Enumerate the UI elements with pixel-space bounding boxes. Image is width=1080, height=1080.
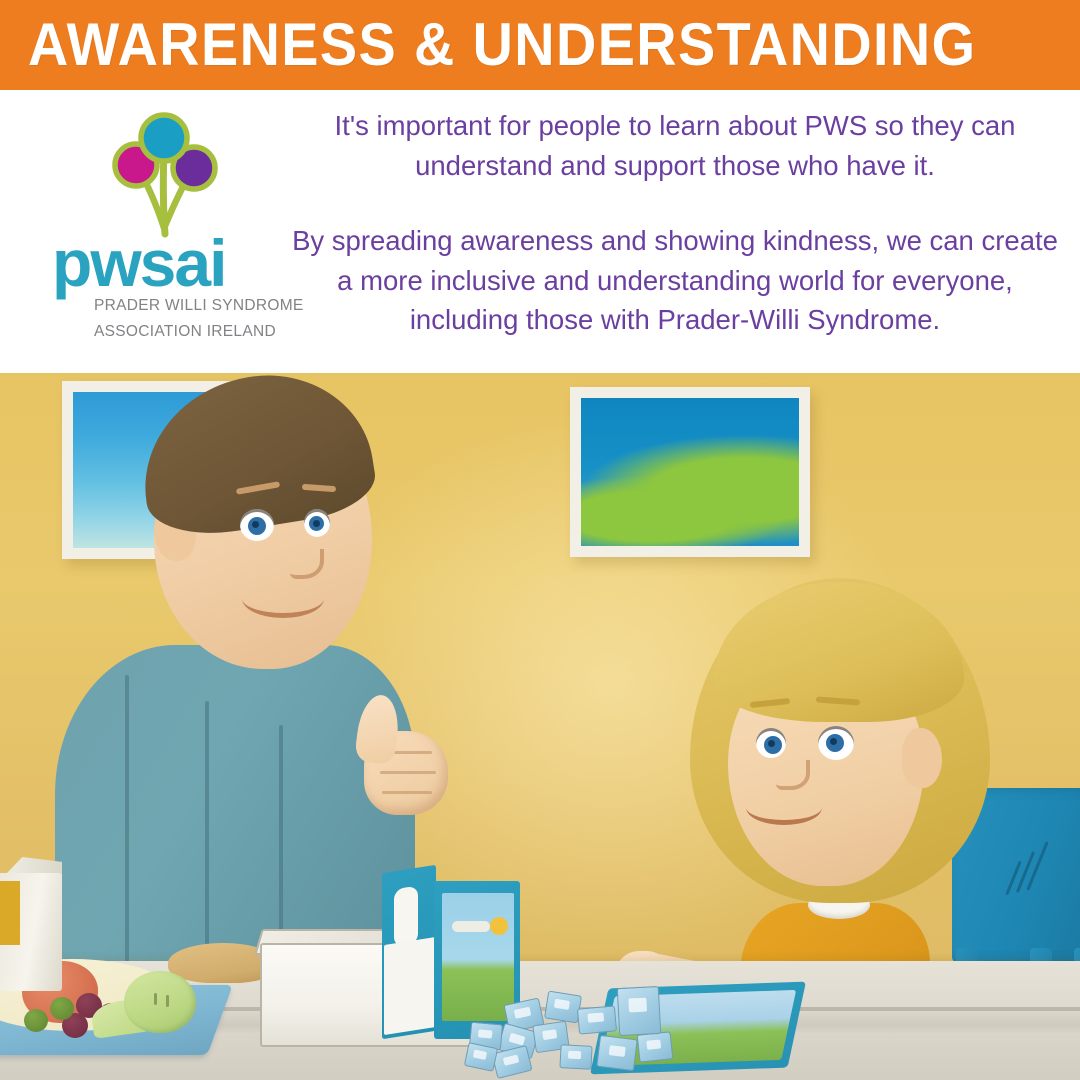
adult-eye-right	[304, 509, 330, 537]
logo-subtitle-line2: ASSOCIATION IRELAND	[94, 322, 288, 342]
green-grape	[24, 1009, 48, 1032]
milk-carton-label	[0, 881, 20, 945]
girl-ear	[902, 728, 942, 788]
framed-picture-right	[570, 387, 810, 557]
adult-eye-left	[240, 509, 274, 541]
shirt-fold	[205, 701, 209, 971]
girl-head	[690, 578, 990, 908]
illustration-scene	[0, 373, 1080, 1080]
girl-mouth	[746, 790, 822, 825]
girl-eye-left	[756, 728, 786, 758]
info-band: pwsai PRADER WILLI SYNDROME ASSOCIATION …	[0, 90, 1080, 373]
girl-eye-right	[818, 726, 854, 760]
puzzle-piece	[637, 1031, 674, 1062]
puzzle-box-side-label	[394, 886, 418, 948]
awareness-poster: AWARENESS & UNDERSTANDING pwsai PR	[0, 0, 1080, 1080]
paragraph-one: It's important for people to learn about…	[290, 106, 1060, 185]
logo-wordmark: pwsai	[52, 236, 288, 290]
paragraph-two: By spreading awareness and showing kindn…	[290, 221, 1060, 340]
puzzle-box-sun	[490, 917, 508, 935]
framed-picture-right-art	[581, 398, 799, 546]
body-copy: It's important for people to learn about…	[290, 106, 1060, 340]
puzzle-piece	[596, 1035, 638, 1071]
header-banner: AWARENESS & UNDERSTANDING	[0, 0, 1080, 90]
adult-head	[132, 381, 382, 671]
puzzle-piece-in-hand	[617, 986, 661, 1036]
thumbs-up-hand-icon	[352, 695, 448, 815]
green-grape	[50, 997, 74, 1020]
puzzle-box-artwork	[442, 893, 514, 1021]
pwsai-logo: pwsai PRADER WILLI SYNDROME ASSOCIATION …	[40, 108, 290, 358]
puzzle-box-side-lower	[384, 937, 436, 1035]
chair-scratch	[1026, 841, 1048, 890]
logo-wordmark-block: pwsai PRADER WILLI SYNDROME ASSOCIATION …	[48, 236, 288, 342]
puzzle-piece	[544, 991, 582, 1024]
puzzle-box	[382, 861, 518, 1037]
adult-mouth	[242, 579, 324, 618]
logo-subtitle-line1: PRADER WILLI SYNDROME	[94, 296, 288, 316]
apple-half	[124, 971, 196, 1033]
pwsai-logo-mark-icon	[95, 108, 235, 238]
shirt-fold	[125, 675, 129, 965]
puzzle-piece	[559, 1044, 592, 1070]
puzzle-box-cloud	[452, 921, 490, 932]
page-title: AWARENESS & UNDERSTANDING	[28, 15, 976, 75]
puzzle-piece	[577, 1005, 617, 1034]
